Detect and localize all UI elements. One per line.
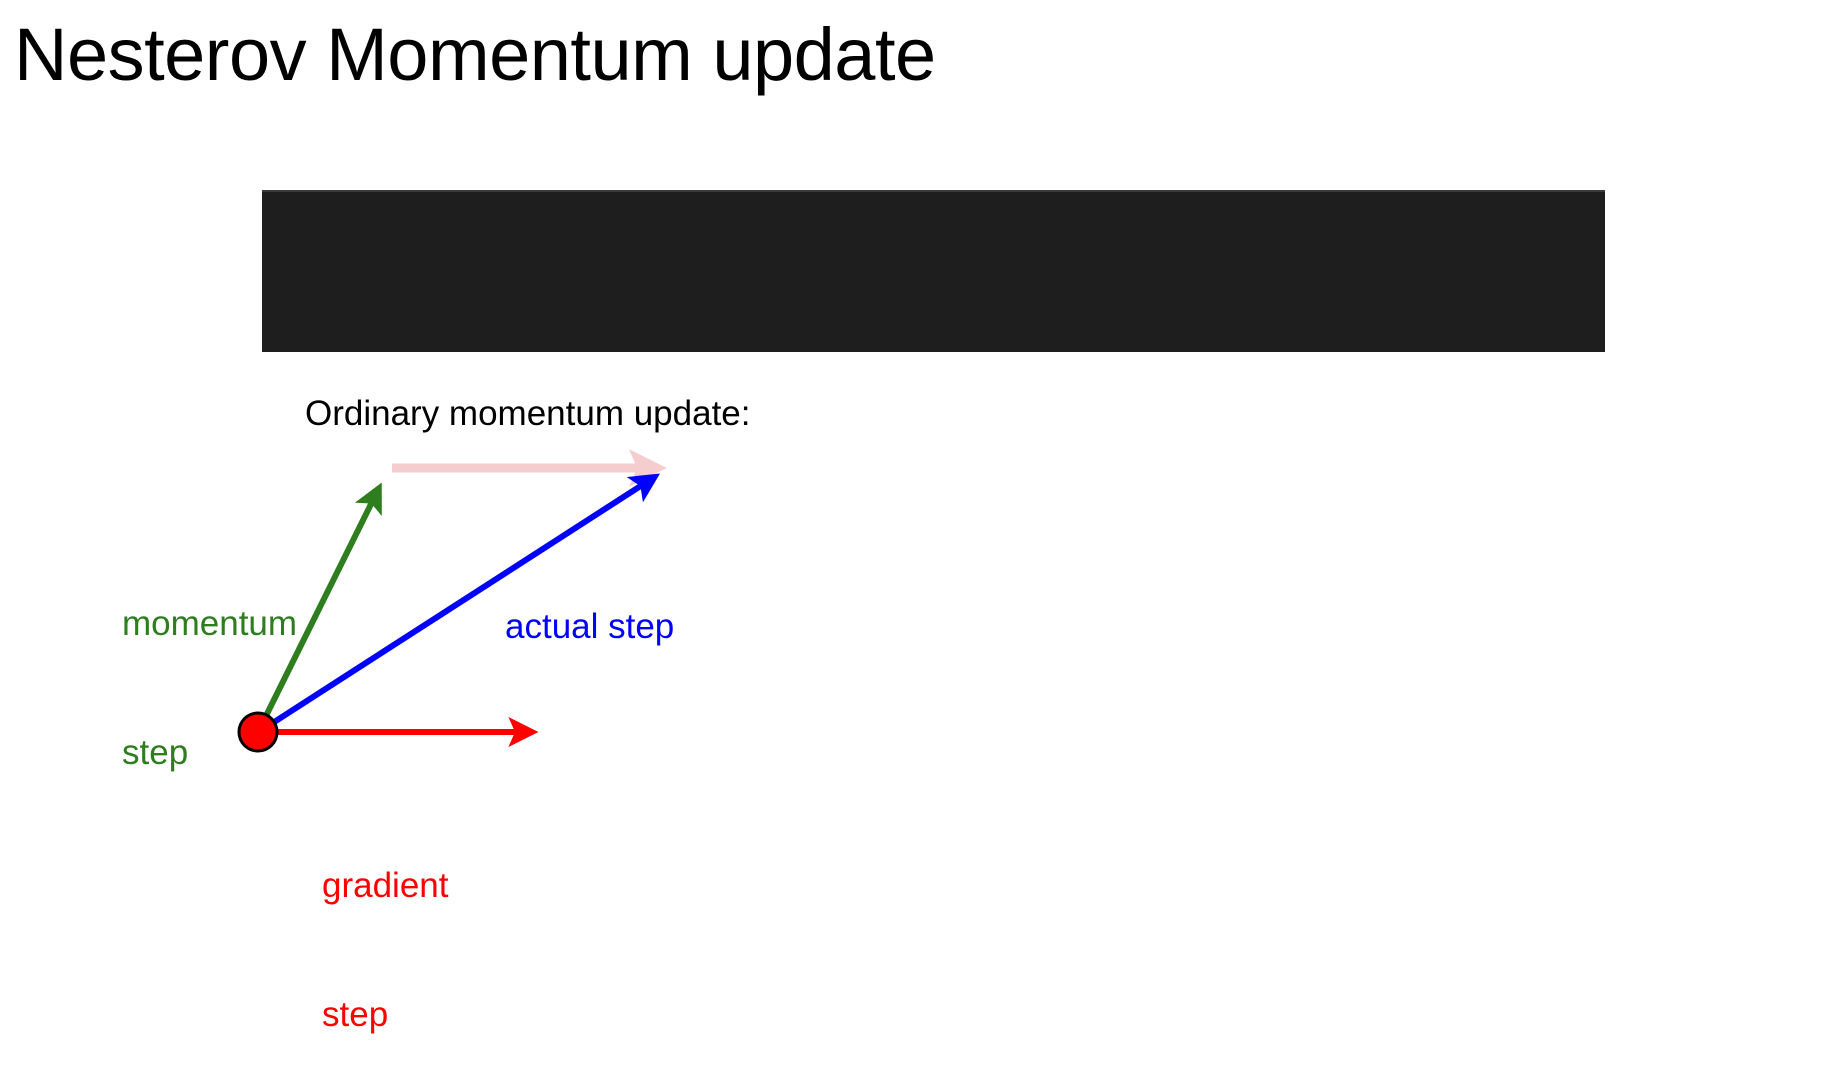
label-gradient-step: gradient step bbox=[322, 778, 448, 1079]
code-comment: # Momentum update bbox=[359, 349, 697, 352]
label-gradient-step-line1: gradient bbox=[322, 864, 448, 907]
code-line-1: # Momentum update bbox=[280, 298, 1605, 352]
label-momentum-step-line1: momentum bbox=[122, 602, 297, 645]
diagram-caption: Ordinary momentum update: bbox=[305, 393, 750, 435]
label-momentum-step: momentum step bbox=[122, 516, 297, 817]
page-title: Nesterov Momentum update bbox=[14, 12, 936, 98]
label-gradient-step-line2: step bbox=[322, 993, 448, 1036]
code-block: # Momentum update v = mu * v - learning_… bbox=[262, 190, 1605, 352]
label-actual-step: actual step bbox=[505, 605, 674, 648]
label-momentum-step-line2: step bbox=[122, 731, 297, 774]
